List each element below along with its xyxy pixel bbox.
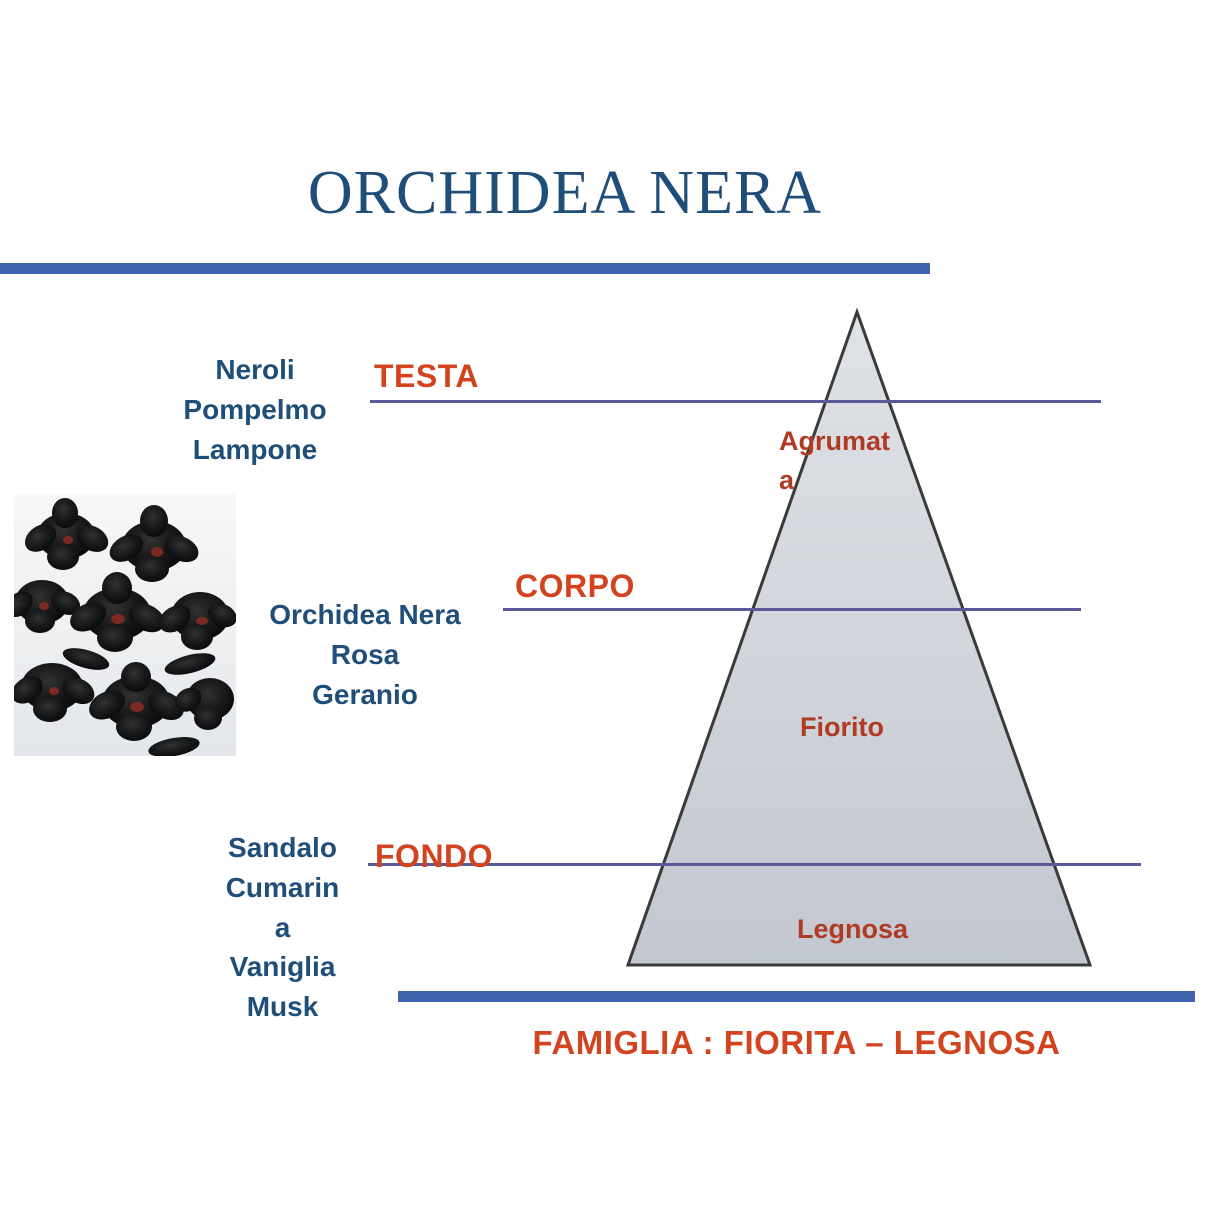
stage-label-testa: TESTA (374, 358, 479, 395)
black-orchid-photo (14, 494, 236, 756)
corpo-rule (503, 608, 1081, 611)
page-title: ORCHIDEA NERA (0, 158, 1130, 229)
olfactory-pyramid (600, 295, 1120, 985)
facet-label-legnosa: Legnosa (797, 910, 908, 949)
family-caption: FAMIGLIA : FIORITA – LEGNOSA (398, 1024, 1195, 1062)
facet-label-agrumata: Agrumata (779, 422, 914, 500)
stage-label-corpo: CORPO (515, 568, 635, 605)
ingredients-testa: NeroliPompelmoLampone (150, 350, 360, 469)
stage-label-fondo: FONDO (375, 838, 493, 875)
bottom-divider-bar (398, 991, 1195, 1002)
ingredients-corpo: Orchidea NeraRosaGeranio (250, 595, 480, 714)
facet-label-fiorito: Fiorito (800, 708, 884, 747)
perfume-pyramid-slide: ORCHIDEA NERA (0, 0, 1214, 1214)
testa-rule (370, 400, 1101, 403)
ingredients-fondo: SandaloCumarinaVanigliaMusk (205, 828, 360, 1027)
top-divider-bar (0, 263, 930, 274)
